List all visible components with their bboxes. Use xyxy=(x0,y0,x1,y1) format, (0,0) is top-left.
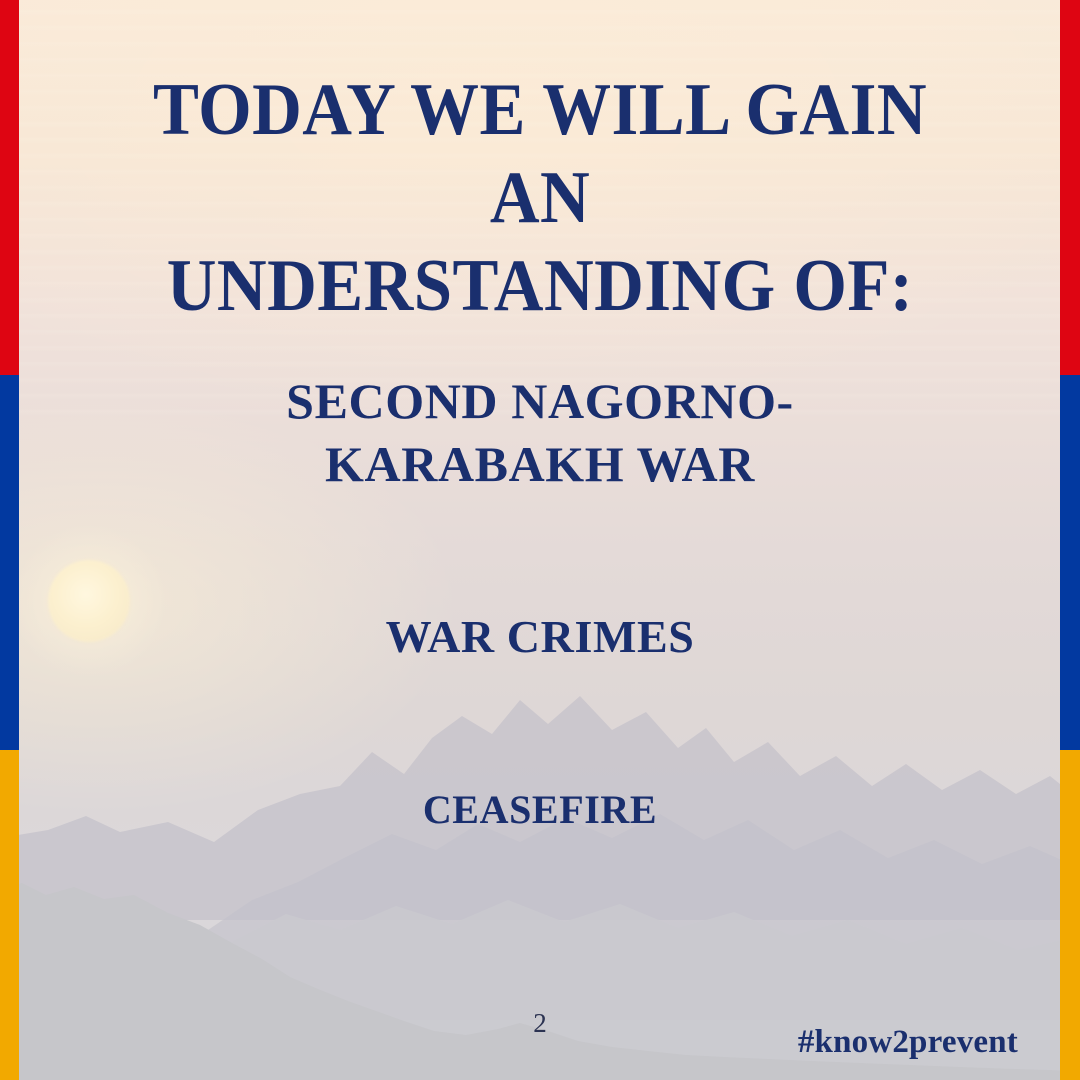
slide-canvas: TODAY WE WILL GAIN AN UNDERSTANDING OF: … xyxy=(0,0,1080,1080)
topic-line: CEASEFIRE xyxy=(0,786,1080,833)
topic-item-ceasefire: CEASEFIRE xyxy=(0,786,1080,833)
page-title: TODAY WE WILL GAIN AN UNDERSTANDING OF: xyxy=(122,66,959,330)
topic-line: KARABAKH WAR xyxy=(0,433,1080,496)
topic-line: WAR CRIMES xyxy=(0,610,1080,663)
topic-item-second-nagorno-karabakh-war: SECOND NAGORNO- KARABAKH WAR xyxy=(0,370,1080,496)
campaign-hashtag: #know2prevent xyxy=(798,1024,1018,1061)
slide-content: TODAY WE WILL GAIN AN UNDERSTANDING OF: … xyxy=(0,0,1080,1080)
page-title-line-2: UNDERSTANDING OF: xyxy=(122,242,959,330)
topic-line: SECOND NAGORNO- xyxy=(0,370,1080,433)
topic-item-war-crimes: WAR CRIMES xyxy=(0,610,1080,663)
page-title-line-1: TODAY WE WILL GAIN AN xyxy=(122,66,959,242)
